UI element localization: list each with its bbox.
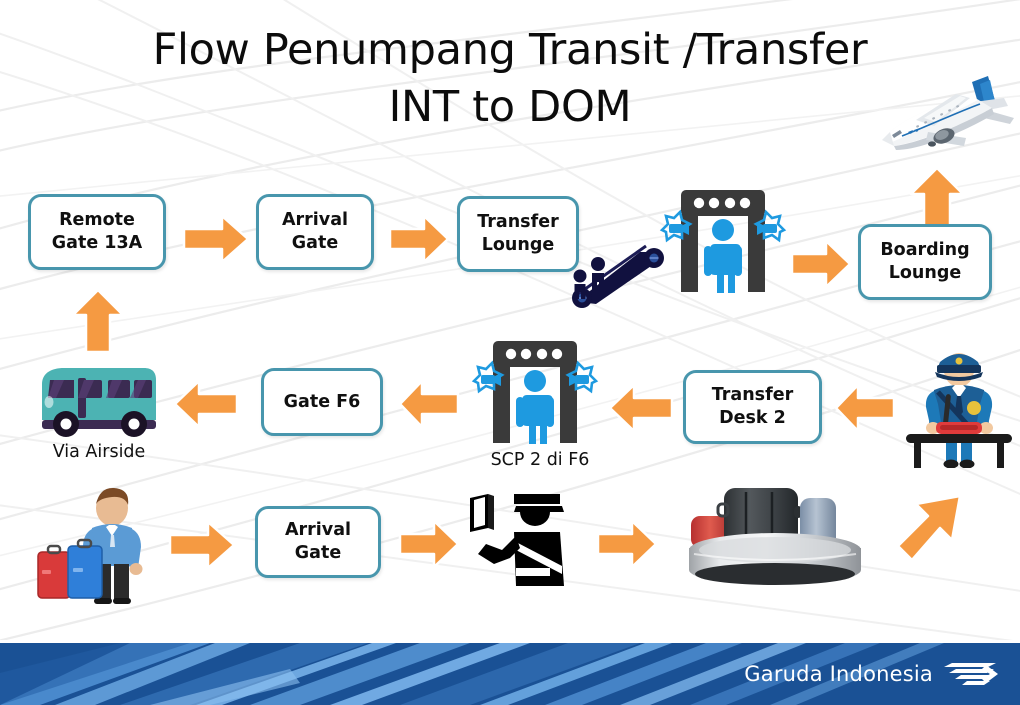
arrow-right-scanner-to-boarding [790, 238, 852, 290]
security-scanner-icon-row1 [652, 186, 794, 296]
box-remote-gate-13a-label: RemoteGate 13A [46, 209, 148, 255]
page-title-line-1: Flow Penumpang Transit /Transfer [0, 22, 1020, 79]
caption-via-airside: Via Airside [14, 442, 184, 462]
page-title: Flow Penumpang Transit /Transfer INT to … [0, 22, 1020, 136]
arrow-left-gatef6-to-bus [173, 378, 239, 430]
box-arrival-gate-row3-label: ArrivalGate [279, 519, 357, 565]
footer-bar: Garuda Indonesia [0, 643, 1020, 705]
box-gate-f6-label: Gate F6 [278, 391, 367, 414]
airplane-icon [868, 74, 1016, 160]
arrow-right-traveler-to-arrival [168, 518, 236, 572]
security-officer-desk-icon [900, 336, 1018, 468]
baggage-carousel-icon [684, 480, 866, 585]
box-remote-gate-13a[interactable]: RemoteGate 13A [28, 194, 166, 270]
box-arrival-gate-row3[interactable]: ArrivalGate [255, 506, 381, 578]
traveler-with-luggage-icon [36, 486, 158, 604]
box-transfer-lounge[interactable]: TransferLounge [457, 196, 579, 272]
shuttle-bus-icon [34, 362, 160, 440]
arrow-right-immigration-to-carousel [596, 518, 658, 570]
box-transfer-desk-2-label: TransferDesk 2 [706, 384, 799, 430]
footer-brand: Garuda Indonesia [744, 659, 998, 689]
arrow-up-right-to-boarding [888, 490, 970, 572]
box-arrival-gate-row1[interactable]: ArrivalGate [256, 194, 374, 270]
brand-name: Garuda Indonesia [744, 662, 933, 686]
box-gate-f6[interactable]: Gate F6 [261, 368, 383, 436]
arrow-right-arrival-to-immigration [398, 518, 460, 570]
security-scanner-icon-row2 [464, 337, 606, 447]
page-title-line-2: INT to DOM [0, 79, 1020, 136]
box-arrival-gate-row1-label: ArrivalGate [276, 209, 354, 255]
arrow-right-remote-to-arrival [182, 212, 250, 266]
arrow-up-bus-to-remote-gate [70, 288, 126, 354]
box-boarding-lounge-label: BoardingLounge [874, 239, 975, 285]
arrow-left-scp-to-gatef6 [398, 378, 460, 430]
caption-scp-2-di-f6: SCP 2 di F6 [450, 450, 630, 470]
arrow-left-officer-to-transferdesk [834, 382, 896, 434]
box-boarding-lounge[interactable]: BoardingLounge [858, 224, 992, 300]
garuda-wing-logo-icon [942, 659, 998, 689]
arrow-right-arrival-to-transfer [388, 212, 450, 266]
box-transfer-lounge-label: TransferLounge [471, 211, 564, 257]
arrow-left-transferdesk-to-scp [608, 382, 674, 434]
slide-canvas: Flow Penumpang Transit /Transfer INT to … [0, 0, 1020, 705]
immigration-officer-icon [464, 492, 576, 588]
box-transfer-desk-2[interactable]: TransferDesk 2 [683, 370, 822, 444]
